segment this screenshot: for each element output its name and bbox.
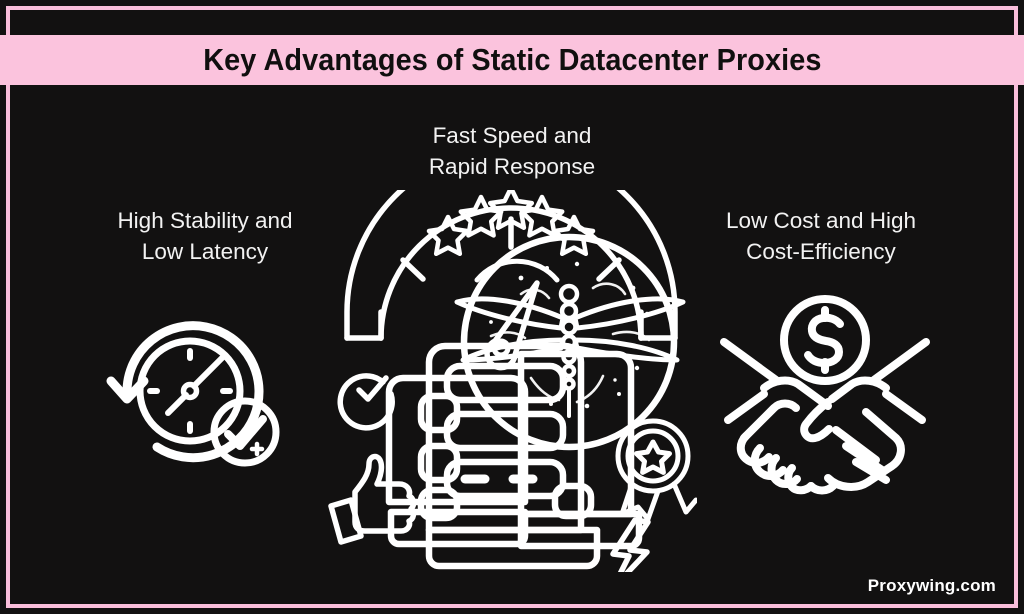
handshake-dollar-icon [706,288,944,513]
advantage-label-cost: Low Cost and High Cost-Efficiency [690,205,952,267]
server-speedometer-dragonfly-icon [325,190,697,572]
watermark-text: Proxywing.com [868,576,996,596]
speedometer-icon [347,190,675,368]
page-title: Key Advantages of Static Datacenter Prox… [203,42,821,78]
lightning-bolt-icon [613,520,648,572]
advantage-label-speed: Fast Speed and Rapid Response [392,120,632,182]
infographic-poster: Key Advantages of Static Datacenter Prox… [0,0,1024,614]
clock-refresh-check-icon [95,295,310,480]
advantage-label-stability: High Stability and Low Latency [80,205,330,267]
dollar-coin-icon [784,299,866,381]
title-banner: Key Advantages of Static Datacenter Prox… [0,35,1024,85]
check-circle-icon [340,376,392,428]
